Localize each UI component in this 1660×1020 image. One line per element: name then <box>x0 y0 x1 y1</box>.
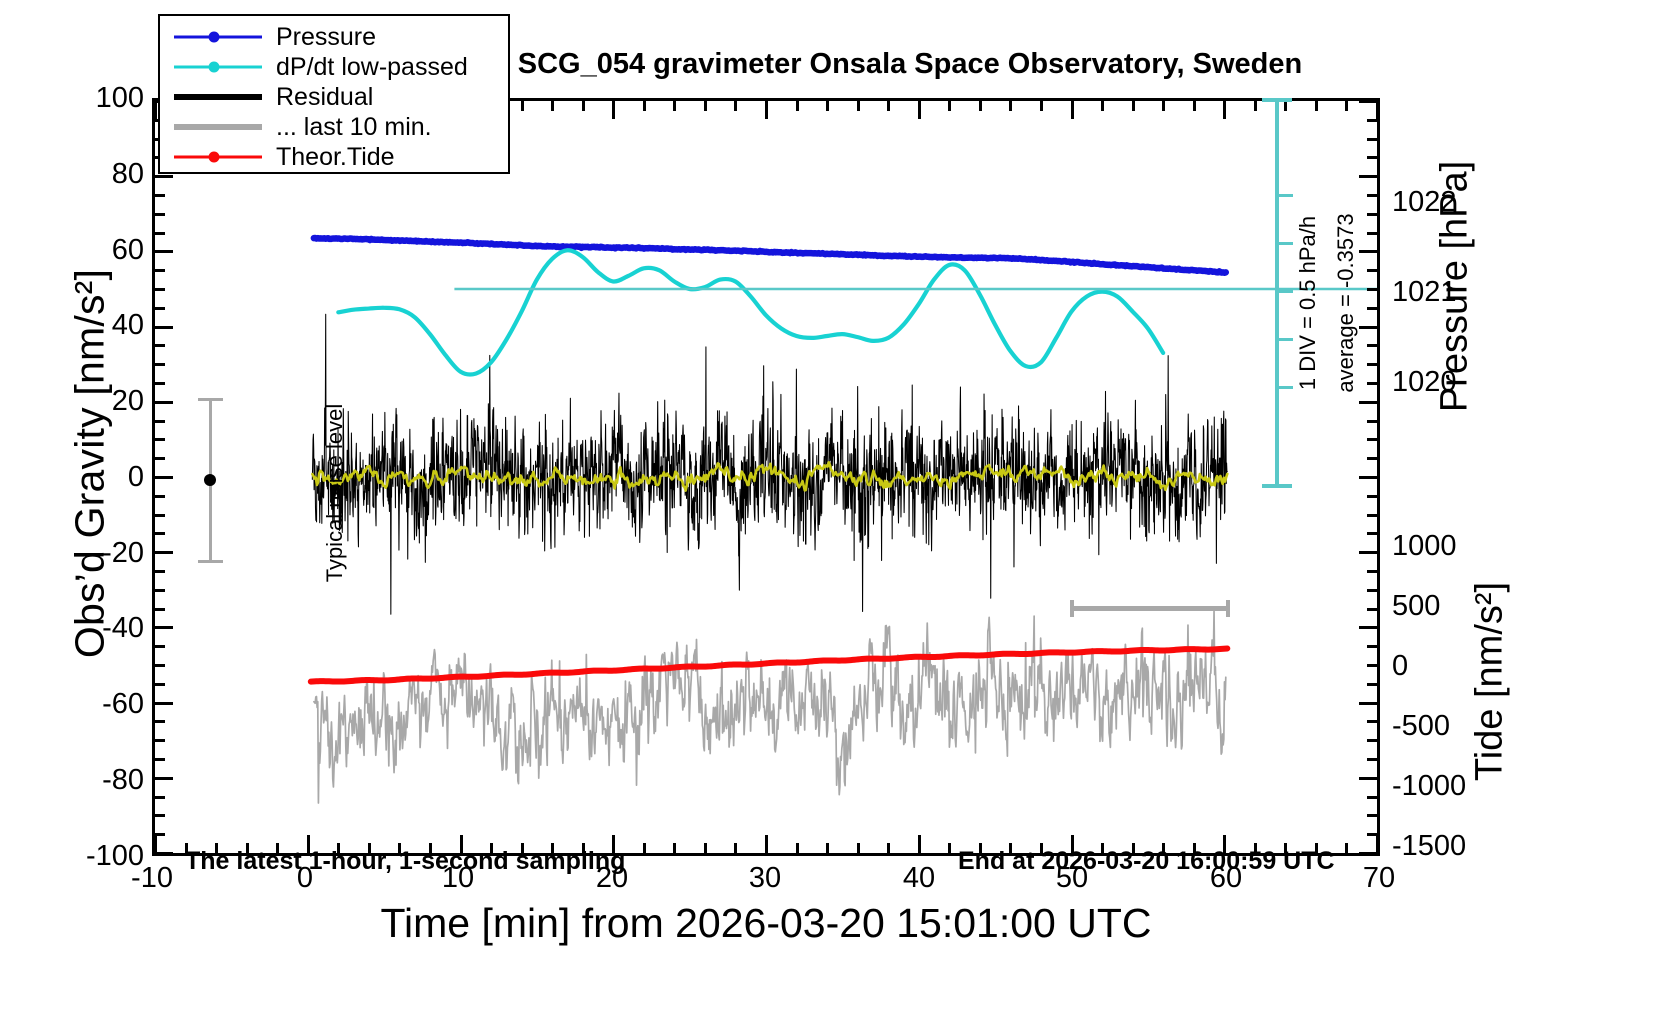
y-tick-tide: 1000 <box>1392 530 1502 563</box>
y-tick-left: -40 <box>84 612 144 645</box>
tick-mark <box>551 101 554 111</box>
y-tick-tide: 500 <box>1392 590 1502 623</box>
y-tick-tide: -500 <box>1392 710 1502 743</box>
tick-mark <box>155 382 165 385</box>
tick-mark <box>155 570 165 573</box>
y-tick-pressure: 1022 <box>1392 186 1502 219</box>
tick-mark <box>154 835 157 853</box>
x-tick: 30 <box>705 862 825 895</box>
y-tick-left: 20 <box>84 385 144 418</box>
tick-mark <box>918 835 921 853</box>
legend-item-residual[interactable]: Residual <box>160 82 508 112</box>
tick-mark <box>155 344 165 347</box>
tick-mark <box>826 101 829 111</box>
tick-mark <box>1359 777 1377 780</box>
tick-mark <box>1367 269 1377 272</box>
tick-mark <box>704 843 707 853</box>
tick-mark <box>1345 843 1348 853</box>
y-tick-left: 60 <box>84 234 144 267</box>
tick-mark <box>857 101 860 111</box>
tick-mark <box>155 288 165 291</box>
tick-mark <box>155 551 173 554</box>
last-10-min-span-bar <box>1070 600 1230 616</box>
series-last-10-min <box>314 611 1226 803</box>
tick-mark <box>155 438 165 441</box>
tick-mark <box>155 175 173 178</box>
tick-mark <box>1367 758 1377 761</box>
tick-mark <box>1367 438 1377 441</box>
tick-mark <box>155 739 165 742</box>
tick-mark <box>796 843 799 853</box>
tick-mark <box>1367 344 1377 347</box>
tick-mark <box>765 835 768 853</box>
tick-mark <box>704 101 707 111</box>
tick-mark <box>1367 194 1377 197</box>
legend-swatch-last10 <box>174 118 262 136</box>
legend-label: Theor.Tide <box>276 145 395 170</box>
y-tick-tide: -1000 <box>1392 770 1502 803</box>
tick-mark <box>918 101 921 119</box>
chart-title: SCG_054 gravimeter Onsala Space Observat… <box>400 48 1420 81</box>
tick-mark <box>1367 363 1377 366</box>
tick-mark <box>155 608 165 611</box>
y-tick-tide: -1500 <box>1392 830 1502 863</box>
tick-mark <box>1376 101 1379 119</box>
tick-mark <box>1367 796 1377 799</box>
dpdt-scale-bar <box>1262 98 1292 488</box>
tick-mark <box>857 843 860 853</box>
legend-swatch-pressure <box>174 28 262 46</box>
tick-mark <box>1367 138 1377 141</box>
tick-mark <box>1367 683 1377 686</box>
tick-mark <box>155 269 165 272</box>
tick-mark <box>1101 101 1104 111</box>
series-pressure <box>314 238 1226 273</box>
y-tick-tide: 0 <box>1392 650 1502 683</box>
tick-mark <box>1359 175 1377 178</box>
tick-mark <box>155 514 165 517</box>
tick-mark <box>673 101 676 111</box>
x-tick: 70 <box>1319 862 1439 895</box>
tick-mark <box>887 843 890 853</box>
tick-mark <box>643 101 646 111</box>
tick-mark <box>582 101 585 111</box>
tick-mark <box>1132 101 1135 111</box>
tick-mark <box>155 476 173 479</box>
legend-label: Residual <box>276 85 373 110</box>
tick-mark <box>765 101 768 119</box>
y-tick-left: 80 <box>84 158 144 191</box>
tick-mark <box>1254 101 1257 111</box>
tick-mark <box>155 420 165 423</box>
tick-mark <box>1367 382 1377 385</box>
tick-mark <box>1315 101 1318 111</box>
y-tick-left: -20 <box>84 537 144 570</box>
tick-mark <box>155 758 165 761</box>
dpdt-average-label: average = -0.3573 <box>1333 173 1359 433</box>
legend-label: ... last 10 min. <box>276 115 432 140</box>
tick-mark <box>1367 570 1377 573</box>
tick-mark <box>1193 101 1196 111</box>
tick-mark <box>1009 101 1012 111</box>
tick-mark <box>673 843 676 853</box>
tick-mark <box>1162 101 1165 111</box>
noise-level-label: Typical noise level <box>322 363 348 623</box>
tick-mark <box>1223 101 1226 119</box>
noise-level-dot <box>204 474 216 486</box>
tick-mark <box>1376 835 1379 853</box>
legend-label: Pressure <box>276 25 376 50</box>
tick-mark <box>948 101 951 111</box>
tick-mark <box>1367 608 1377 611</box>
tick-mark <box>1367 532 1377 535</box>
tick-mark <box>979 101 982 111</box>
tick-mark <box>155 814 165 817</box>
tick-mark <box>1367 420 1377 423</box>
x-axis-title: Time [min] from 2026-03-20 15:01:00 UTC <box>152 900 1380 947</box>
tick-mark <box>154 101 157 119</box>
tick-mark <box>1367 589 1377 592</box>
tick-mark <box>1367 739 1377 742</box>
tick-mark <box>643 843 646 853</box>
tick-mark <box>1367 119 1377 122</box>
tick-mark <box>1359 100 1377 103</box>
tick-mark <box>1359 551 1377 554</box>
tick-mark <box>1071 101 1074 119</box>
y-tick-left: -80 <box>84 764 144 797</box>
tick-mark <box>1367 213 1377 216</box>
tick-mark <box>155 683 165 686</box>
tick-mark <box>1367 664 1377 667</box>
tick-mark <box>155 720 165 723</box>
tick-mark <box>796 101 799 111</box>
tick-mark <box>1367 156 1377 159</box>
tick-mark <box>155 307 165 310</box>
y-tick-left: 40 <box>84 309 144 342</box>
tick-mark <box>155 532 165 535</box>
tick-mark <box>1367 814 1377 817</box>
tick-mark <box>155 833 165 836</box>
y-tick-left: 0 <box>84 461 144 494</box>
footer-sampling-note: The latest 1-hour, 1-second sampling <box>185 847 625 876</box>
y-tick-left: -60 <box>84 688 144 721</box>
tick-mark <box>734 101 737 111</box>
tick-mark <box>1367 457 1377 460</box>
tick-mark <box>155 796 165 799</box>
y-tick-pressure: 1021 <box>1392 276 1502 309</box>
tick-mark <box>155 664 165 667</box>
tick-mark <box>1040 101 1043 111</box>
tick-mark <box>1367 307 1377 310</box>
tick-mark <box>1359 326 1377 329</box>
series-dpdt-lowpassed <box>338 250 1163 374</box>
tick-mark <box>155 852 173 855</box>
tick-mark <box>948 843 951 853</box>
tick-mark <box>155 363 165 366</box>
tick-mark <box>155 777 173 780</box>
tick-mark <box>612 101 615 119</box>
tick-mark <box>734 843 737 853</box>
tick-mark <box>521 101 524 111</box>
tick-mark <box>155 702 173 705</box>
y-tick-left: 100 <box>84 82 144 115</box>
tick-mark <box>155 589 165 592</box>
tick-mark <box>155 626 173 629</box>
dpdt-scale-label: 1 DIV = 0.5 hPa/h <box>1295 173 1321 433</box>
tick-mark <box>1367 645 1377 648</box>
legend-item-last10[interactable]: ... last 10 min. <box>160 112 508 142</box>
tick-mark <box>1359 626 1377 629</box>
y-tick-pressure: 1020 <box>1392 366 1502 399</box>
tick-mark <box>1359 852 1377 855</box>
footer-end-time: End at 2026-03-20 16:00:59 UTC <box>958 847 1335 876</box>
tick-mark <box>1359 250 1377 253</box>
tick-mark <box>155 401 173 404</box>
tick-mark <box>155 326 173 329</box>
tick-mark <box>826 843 829 853</box>
tick-mark <box>155 213 165 216</box>
legend-swatch-tide <box>174 148 262 166</box>
tick-mark <box>155 250 173 253</box>
legend-swatch-residual <box>174 88 262 106</box>
tick-mark <box>1345 101 1348 111</box>
tick-mark <box>1359 401 1377 404</box>
tick-mark <box>1359 702 1377 705</box>
tick-mark <box>1359 476 1377 479</box>
legend[interactable]: Pressure dP/dt low-passed Residual ... l… <box>158 14 510 174</box>
tick-mark <box>1367 232 1377 235</box>
tick-mark <box>887 101 890 111</box>
tick-mark <box>155 457 165 460</box>
tick-mark <box>1367 720 1377 723</box>
tick-mark <box>155 645 165 648</box>
tick-mark <box>1367 495 1377 498</box>
tick-mark <box>155 194 165 197</box>
tick-mark <box>1367 514 1377 517</box>
legend-swatch-dpdt <box>174 58 262 76</box>
tick-mark <box>155 495 165 498</box>
tick-mark <box>155 232 165 235</box>
legend-item-tide[interactable]: Theor.Tide <box>160 142 508 172</box>
tick-mark <box>1367 288 1377 291</box>
noise-level-marker <box>190 398 230 563</box>
